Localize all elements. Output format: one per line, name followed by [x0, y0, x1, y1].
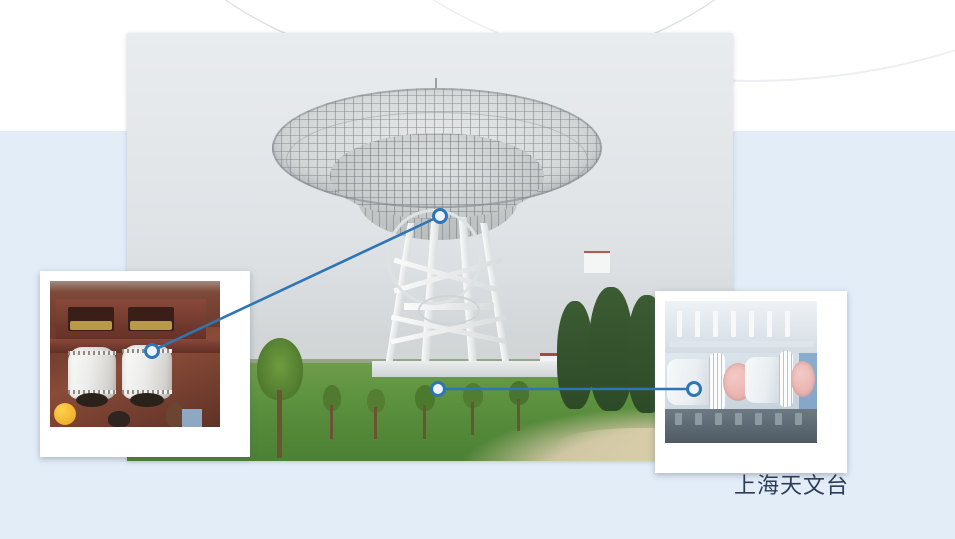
- tower-platform-ring: [418, 295, 480, 325]
- inset-photo-refurbished-bearing: [655, 291, 847, 473]
- sapling-trunk: [423, 405, 426, 439]
- tree-willow: [257, 338, 303, 458]
- casing-fin: [785, 311, 790, 337]
- base-bolt: [735, 413, 742, 425]
- sapling-trunk: [471, 402, 474, 435]
- cylinder-face-right: [130, 393, 164, 407]
- rusty-bolt-row-2: [130, 321, 172, 330]
- base-bolt: [795, 413, 802, 425]
- inset-right-image: [665, 301, 817, 443]
- sapling-trunk: [517, 399, 520, 431]
- worker-clothing: [182, 409, 202, 427]
- base-bolt: [675, 413, 682, 425]
- bearing-cylinder-right: [122, 345, 172, 399]
- casing-fin: [695, 311, 700, 337]
- pink-end-cap-front: [791, 361, 815, 397]
- sapling-trunk: [330, 405, 333, 439]
- caption-observatory-name: 上海天文台: [734, 468, 849, 500]
- yellow-sphere: [54, 403, 76, 425]
- inset-left-image: [50, 281, 220, 427]
- worker-silhouette: [108, 411, 130, 427]
- elevation-drive-housing: [584, 253, 610, 273]
- slide-canvas: 上海天文台: [0, 0, 955, 539]
- casing-fin: [767, 311, 772, 337]
- base-bolt: [775, 413, 782, 425]
- inset-photo-rusty-bearing: [40, 271, 250, 457]
- tree-trunk: [277, 390, 282, 458]
- casing-rail: [669, 341, 813, 347]
- cylinder-face-left: [76, 393, 108, 407]
- casing-fin: [677, 311, 682, 337]
- bearing-cylinder-left: [68, 347, 116, 399]
- dish-secondary-rim: [286, 112, 588, 208]
- casing-fin: [749, 311, 754, 337]
- base-bolt: [695, 413, 702, 425]
- conifer-1: [557, 301, 593, 409]
- tower-leg-4: [480, 223, 510, 371]
- sapling-trunk: [374, 407, 377, 439]
- sapling-3: [415, 385, 435, 439]
- base-bolt: [755, 413, 762, 425]
- rusty-bolt-row-1: [70, 321, 112, 330]
- sapling-5: [509, 381, 529, 431]
- casing-fin: [713, 311, 718, 337]
- sapling-2: [367, 389, 385, 439]
- cylinder-bolt-ring: [68, 351, 116, 355]
- cylinder-bolt-ring: [122, 349, 172, 353]
- base-bolt: [715, 413, 722, 425]
- telescope-pedestal-tower: [352, 213, 512, 381]
- sapling-1: [323, 385, 341, 439]
- casing-fin: [731, 311, 736, 337]
- sapling-4: [463, 383, 483, 435]
